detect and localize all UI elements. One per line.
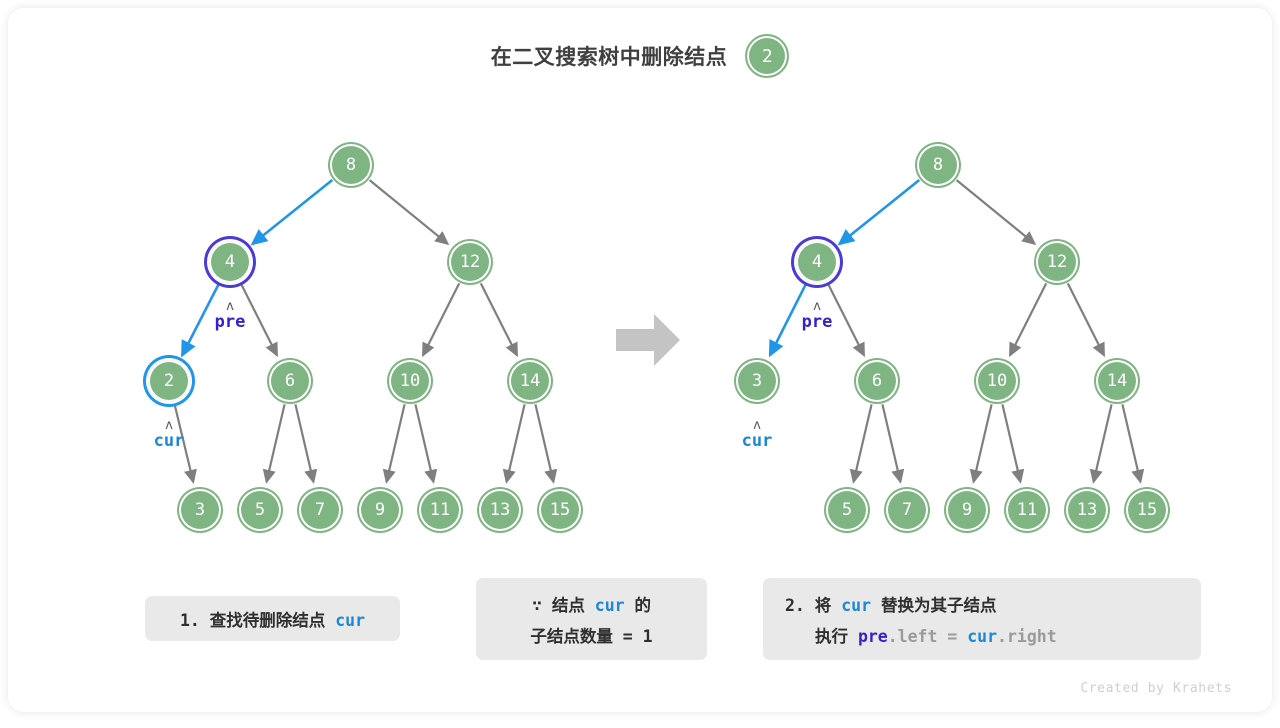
tree-edge [1122,404,1140,481]
caption-step2-after: 替换为其子结点 [881,596,997,615]
caption-step1-prefix: 1. 查找待删除结点 [180,611,325,630]
tree-node-4[interactable]: 4 [209,241,251,283]
tree-node-10[interactable]: 10 [389,360,431,402]
tree-edge [1094,404,1112,481]
tree-edge [370,180,448,244]
tree-node-10[interactable]: 10 [976,360,1018,402]
tree-node-12[interactable]: 12 [449,241,491,283]
tree-edge [882,404,900,481]
caption-step2-exec: 执行 [815,627,848,646]
pointer-name: pre [215,314,246,331]
tree-node-15[interactable]: 15 [1126,489,1168,531]
caption-step2-pre-attr: .left [888,627,938,646]
tree-node-7[interactable]: 7 [299,489,341,531]
caption-step-1: 1. 查找待删除结点 cur [145,596,400,641]
tree-edge [854,404,872,481]
caption-step2-cur-attr: .right [997,627,1057,646]
pointer-label-pre: ʌpre [802,300,833,331]
pointer-name: pre [802,314,833,331]
tree-edge [481,283,517,355]
tree-edge [828,283,864,355]
caption-reason-cur: cur [595,596,625,615]
tree-node-12[interactable]: 12 [1036,241,1078,283]
tree-edge [415,404,433,481]
tree-edge [253,180,333,244]
tree-node-13[interactable]: 13 [1066,489,1108,531]
tree-edge [535,404,553,481]
tree-edge [387,404,405,481]
tree-edge [1010,283,1046,355]
tree-edge [1002,404,1020,481]
tree-node-13[interactable]: 13 [479,489,521,531]
footer-credit: Created by Krahets [1080,681,1232,696]
tree-edge [423,283,459,355]
tree-edge [267,404,285,481]
tree-node-11[interactable]: 11 [1006,489,1048,531]
tree-node-11[interactable]: 11 [419,489,461,531]
figure-card: 在二叉搜索树中删除结点 2 84122610143579111315841236… [8,8,1272,712]
tree-edge [295,404,313,481]
tree-node-4[interactable]: 4 [796,241,838,283]
pointer-label-cur: ʌcur [742,419,773,450]
tree-node-6[interactable]: 6 [856,360,898,402]
tree-node-8[interactable]: 8 [917,144,959,186]
caption-step2-cur: cur [841,596,871,615]
tree-node-7[interactable]: 7 [886,489,928,531]
tree-node-3[interactable]: 3 [736,360,778,402]
tree-edge [1068,283,1104,355]
transition-arrow-icon [614,311,682,369]
caption-reason-line2: 子结点数量 = 1 [530,623,652,647]
tree-node-9[interactable]: 9 [946,489,988,531]
pointer-label-pre: ʌpre [215,300,246,331]
caption-step-2: 2. 将 cur 替换为其子结点 执行 pre.left = cur.right [763,578,1201,660]
tree-edge [974,404,992,481]
tree-node-15[interactable]: 15 [539,489,581,531]
tree-edge [182,283,219,355]
pointer-name: cur [154,433,185,450]
tree-node-3[interactable]: 3 [179,489,221,531]
tree-node-8[interactable]: 8 [330,144,372,186]
tree-edge [241,283,277,355]
tree-node-14[interactable]: 14 [1096,360,1138,402]
caption-reason-after: 的 [635,596,652,615]
pointer-label-cur: ʌcur [154,419,185,450]
tree-node-5[interactable]: 5 [239,489,281,531]
tree-node-5[interactable]: 5 [826,489,868,531]
pointer-name: cur [742,433,773,450]
caption-step2-cur2: cur [967,627,997,646]
caption-reason: ∵ 结点 cur 的 子结点数量 = 1 [476,578,707,660]
tree-node-6[interactable]: 6 [269,360,311,402]
caption-step1-cur: cur [335,611,365,630]
tree-node-9[interactable]: 9 [359,489,401,531]
tree-edge [507,404,525,481]
caption-step2-equals: = [947,627,957,646]
tree-edge [957,180,1035,244]
caption-reason-before: ∵ 结点 [532,596,585,615]
tree-node-14[interactable]: 14 [509,360,551,402]
caption-step2-pre: pre [858,627,888,646]
tree-node-2[interactable]: 2 [148,360,190,402]
tree-edge [840,180,920,244]
caption-step2-before: 2. 将 [785,596,831,615]
